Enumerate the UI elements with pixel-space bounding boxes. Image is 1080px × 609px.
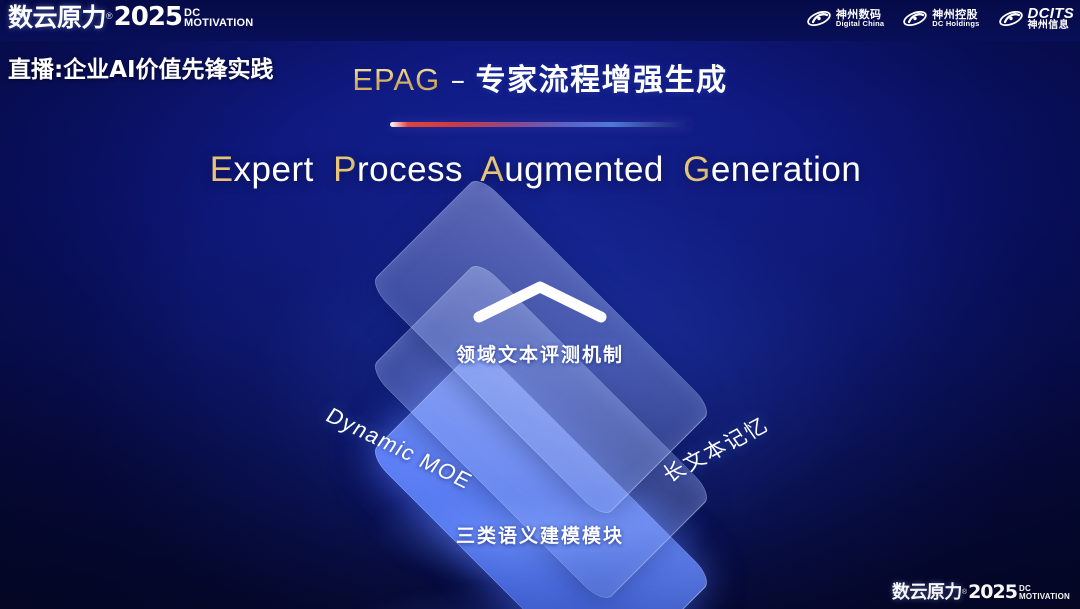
english-word-generation: Generation: [683, 150, 861, 189]
registered-mark: ®: [106, 11, 113, 21]
watermark-dc-line2: MOTIVATION: [1019, 593, 1070, 600]
title-dash: –: [451, 63, 466, 97]
partner-name-cn: 神州信息: [1028, 21, 1075, 31]
slide-canvas: 数云原力 ® 2025 DC MOTIVATION 直播:企业AI价值先锋实践 …: [0, 0, 1080, 609]
partner-name-en: Digital China: [836, 20, 884, 28]
partner-text: 神州控股 DC Holdings: [932, 9, 979, 28]
watermark-year: 2025: [968, 583, 1017, 602]
swirl-icon: [902, 8, 928, 29]
watermark-name-cn: 数云原力: [892, 584, 962, 602]
watermark-dc-motivation: DC MOTIVATION: [1019, 585, 1070, 600]
footer-watermark-logo: 数云原力 ® 2025 DC MOTIVATION: [892, 583, 1070, 602]
brand-dc-line2: MOTIVATION: [184, 18, 253, 28]
swirl-icon: [998, 8, 1024, 29]
partner-text: DCITS 神州信息: [1028, 6, 1075, 31]
title-english-expansion: Expert Process Augmented Generation: [0, 150, 1080, 190]
title-divider: [390, 122, 690, 127]
partner-name-en: DCITS: [1028, 6, 1075, 21]
partner-logo-digital-china: 神州数码 Digital China: [806, 8, 884, 29]
partner-logo-group: 神州数码 Digital China 神州控股 DC Holdings: [806, 6, 1074, 31]
english-word-process: Process: [333, 150, 463, 189]
brand-logo: 数云原力 ® 2025 DC MOTIVATION: [8, 4, 253, 30]
title-chinese: 专家流程增强生成: [476, 63, 728, 98]
brand-name-cn: 数云原力: [8, 5, 106, 30]
live-banner-text: 直播:企业AI价值先锋实践: [8, 50, 274, 84]
title-acronym: EPAG: [352, 62, 440, 97]
middle-layer-glow: [375, 485, 705, 580]
swirl-icon: [806, 8, 832, 29]
layered-stack-diagram: 领域文本评测机制 Dynamic MOE 长文本记忆 三类语义建模模块: [270, 233, 810, 563]
english-word-expert: Expert: [210, 150, 314, 189]
watermark-registered-mark: ®: [962, 589, 967, 596]
partner-name-en: DC Holdings: [932, 20, 979, 28]
brand-dc-motivation: DC MOTIVATION: [184, 8, 253, 28]
partner-text: 神州数码 Digital China: [836, 9, 884, 28]
brand-year: 2025: [114, 4, 182, 30]
english-word-augmented: Augmented: [480, 150, 664, 189]
partner-logo-dcits: DCITS 神州信息: [998, 6, 1075, 31]
partner-logo-dc-holdings: 神州控股 DC Holdings: [902, 8, 979, 29]
